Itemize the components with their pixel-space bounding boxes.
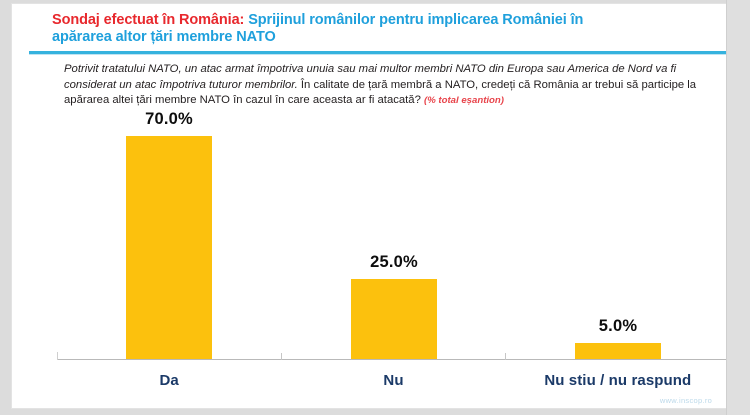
bar-value-label-2: 25.0%: [321, 253, 467, 272]
x-axis-line: [57, 359, 730, 360]
x-axis-endcap-left: [57, 352, 58, 360]
title-divider-soft: [29, 54, 729, 55]
x-axis-tick-2: [505, 353, 506, 360]
title-line-1: Sondaj efectuat în România: Sprijinul ro…: [52, 12, 707, 29]
slide-right-gutter: [726, 0, 750, 415]
title-prefix-red: Sondaj efectuat în România:: [52, 12, 244, 28]
bar-1: [126, 136, 212, 359]
survey-question: Potrivit tratatului NATO, un atac armat …: [64, 62, 714, 109]
bar-value-label-1: 70.0%: [96, 110, 242, 129]
bar-value-label-3: 5.0%: [545, 317, 691, 336]
page-title: Sondaj efectuat în România: Sprijinul ro…: [52, 12, 707, 46]
question-sample-note: (% total eșantion): [424, 95, 504, 106]
bar-3: [575, 343, 661, 359]
title-main-blue: Sprijinul românilor pentru implicarea Ro…: [244, 12, 583, 28]
category-label-3: Nu stiu / nu raspund: [506, 372, 730, 389]
x-axis-tick-1: [281, 353, 282, 360]
category-label-2: Nu: [281, 372, 505, 389]
source-watermark: www.inscop.ro: [640, 396, 732, 405]
bar-2: [351, 279, 437, 359]
slide-card: Sondaj efectuat în România: Sprijinul ro…: [12, 4, 726, 408]
category-label-1: Da: [57, 372, 281, 389]
slide-frame: Sondaj efectuat în România: Sprijinul ro…: [0, 0, 750, 415]
title-line-2: apărarea altor țări membre NATO: [52, 29, 707, 46]
